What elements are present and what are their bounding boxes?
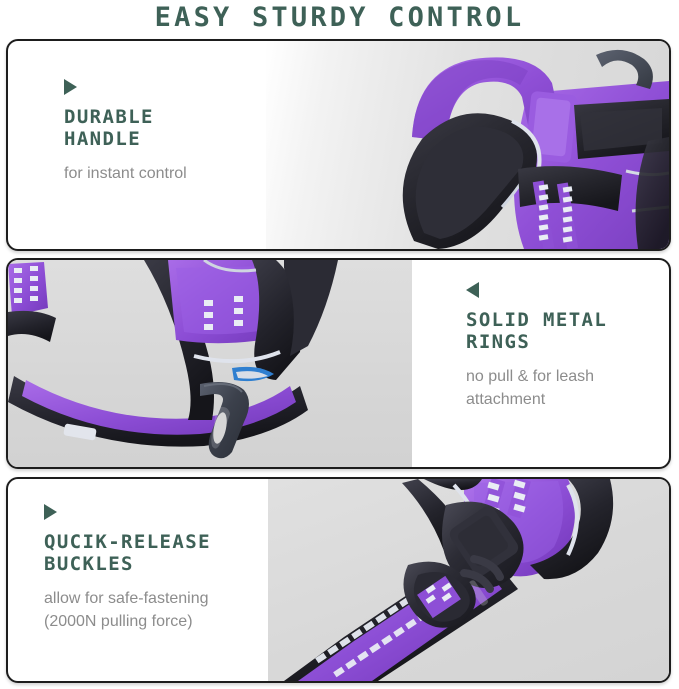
harness-buckle-illustration <box>268 479 669 681</box>
panel-2-text-block: SOLID METAL RINGS no pull & for leash at… <box>410 260 671 467</box>
panel-3-text-block: QUCIK-RELEASE BUCKLES allow for safe-fas… <box>8 479 272 681</box>
feature-description: no pull & for leash attachment <box>466 365 671 411</box>
feature-description: for instant control <box>64 162 276 185</box>
harness-metal-ring-illustration <box>8 260 412 467</box>
product-infographic: EASY STURDY CONTROL <box>0 0 679 689</box>
triangle-right-icon <box>44 504 57 520</box>
page-title: EASY STURDY CONTROL <box>0 2 679 34</box>
harness-metal-ring-photo <box>8 260 412 467</box>
feature-panel-solid-metal-rings: SOLID METAL RINGS no pull & for leash at… <box>6 258 671 469</box>
harness-handle-illustration <box>266 41 669 249</box>
feature-description: allow for safe-fastening (2000N pulling … <box>44 587 272 633</box>
panel-1-text-block: DURABLE HANDLE for instant control <box>8 41 276 249</box>
harness-buckle-photo <box>268 479 669 681</box>
feature-title: SOLID METAL RINGS <box>466 309 671 353</box>
feature-title: DURABLE HANDLE <box>64 106 276 150</box>
feature-panel-durable-handle: DURABLE HANDLE for instant control <box>6 39 671 251</box>
triangle-right-icon <box>64 79 77 95</box>
harness-handle-photo <box>266 41 669 249</box>
feature-title: QUCIK-RELEASE BUCKLES <box>44 531 272 575</box>
feature-panel-quick-release-buckles: QUCIK-RELEASE BUCKLES allow for safe-fas… <box>6 477 671 683</box>
triangle-left-icon <box>466 282 479 298</box>
